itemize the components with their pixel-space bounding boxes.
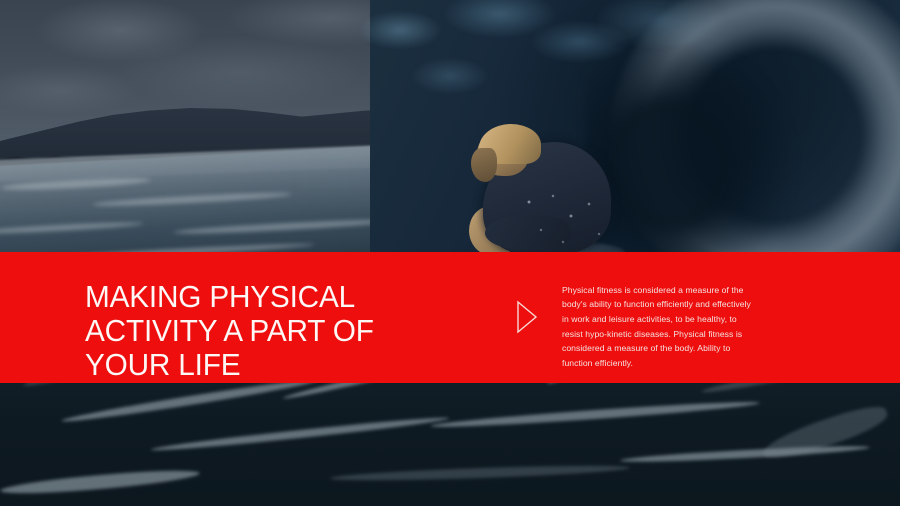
surfer-figure [455, 120, 640, 260]
slide-body-text: Physical fitness is considered a measure… [562, 283, 758, 371]
play-triangle-icon[interactable] [515, 300, 539, 334]
wave-spray [330, 0, 750, 120]
surfer-face [471, 148, 497, 182]
slide-title: MAKING PHYSICAL ACTIVITY A PART OF YOUR … [85, 280, 374, 382]
presentation-slide: MAKING PHYSICAL ACTIVITY A PART OF YOUR … [0, 0, 900, 506]
water-droplets [519, 190, 611, 254]
